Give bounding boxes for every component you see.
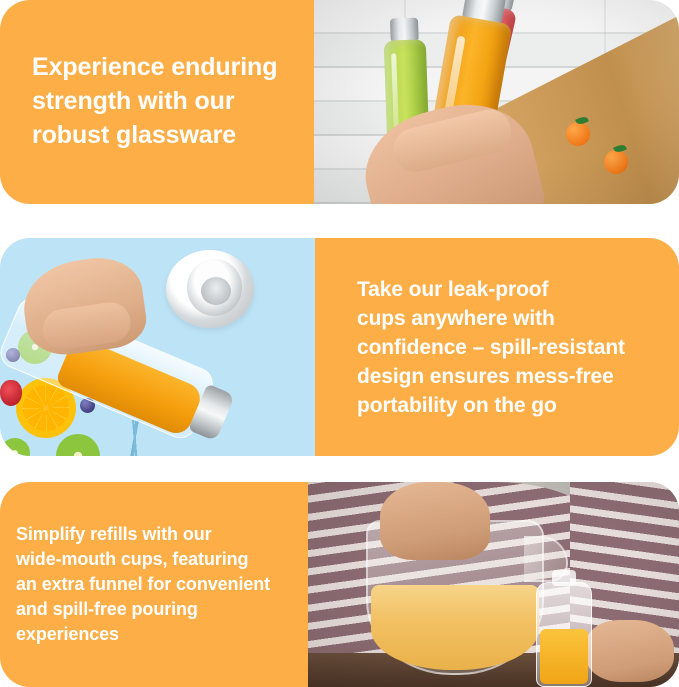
panel-1-image bbox=[314, 0, 679, 204]
scene-bottle-pouring-on-blue bbox=[0, 238, 315, 456]
lid-center bbox=[201, 277, 231, 305]
feature-panel-1: Experience enduring strength with our ro… bbox=[0, 0, 679, 204]
hand-holding-pitcher bbox=[380, 482, 490, 560]
panel-2-headline: Take our leak-proof cups anywhere with c… bbox=[315, 275, 679, 420]
second-hand bbox=[586, 620, 674, 682]
feature-panel-3: Simplify refills with our wide-mouth cup… bbox=[0, 482, 679, 687]
panel-3-text-block: Simplify refills with our wide-mouth cup… bbox=[0, 482, 308, 687]
juice-in-pitcher bbox=[371, 585, 539, 670]
infographic-page: Experience enduring strength with our ro… bbox=[0, 0, 679, 687]
orange-juice-fill bbox=[540, 629, 588, 684]
tangerine-icon bbox=[604, 150, 628, 174]
scene-bottles-on-white-wood bbox=[314, 0, 679, 204]
panel-3-headline: Simplify refills with our wide-mouth cup… bbox=[0, 522, 308, 647]
scene-woman-pouring-pitcher bbox=[308, 482, 679, 687]
panel-2-image bbox=[0, 238, 315, 456]
panel-1-headline: Experience enduring strength with our ro… bbox=[0, 50, 314, 152]
strawberry-icon bbox=[0, 380, 22, 406]
tangerine-icon bbox=[566, 122, 590, 146]
panel-3-image bbox=[308, 482, 679, 687]
stainless-steel-lid bbox=[166, 250, 254, 328]
wide-mouth-bottle bbox=[536, 582, 592, 687]
feature-panel-2: Take our leak-proof cups anywhere with c… bbox=[0, 238, 679, 456]
panel-2-text-block: Take our leak-proof cups anywhere with c… bbox=[315, 238, 679, 456]
panel-1-text-block: Experience enduring strength with our ro… bbox=[0, 0, 314, 204]
